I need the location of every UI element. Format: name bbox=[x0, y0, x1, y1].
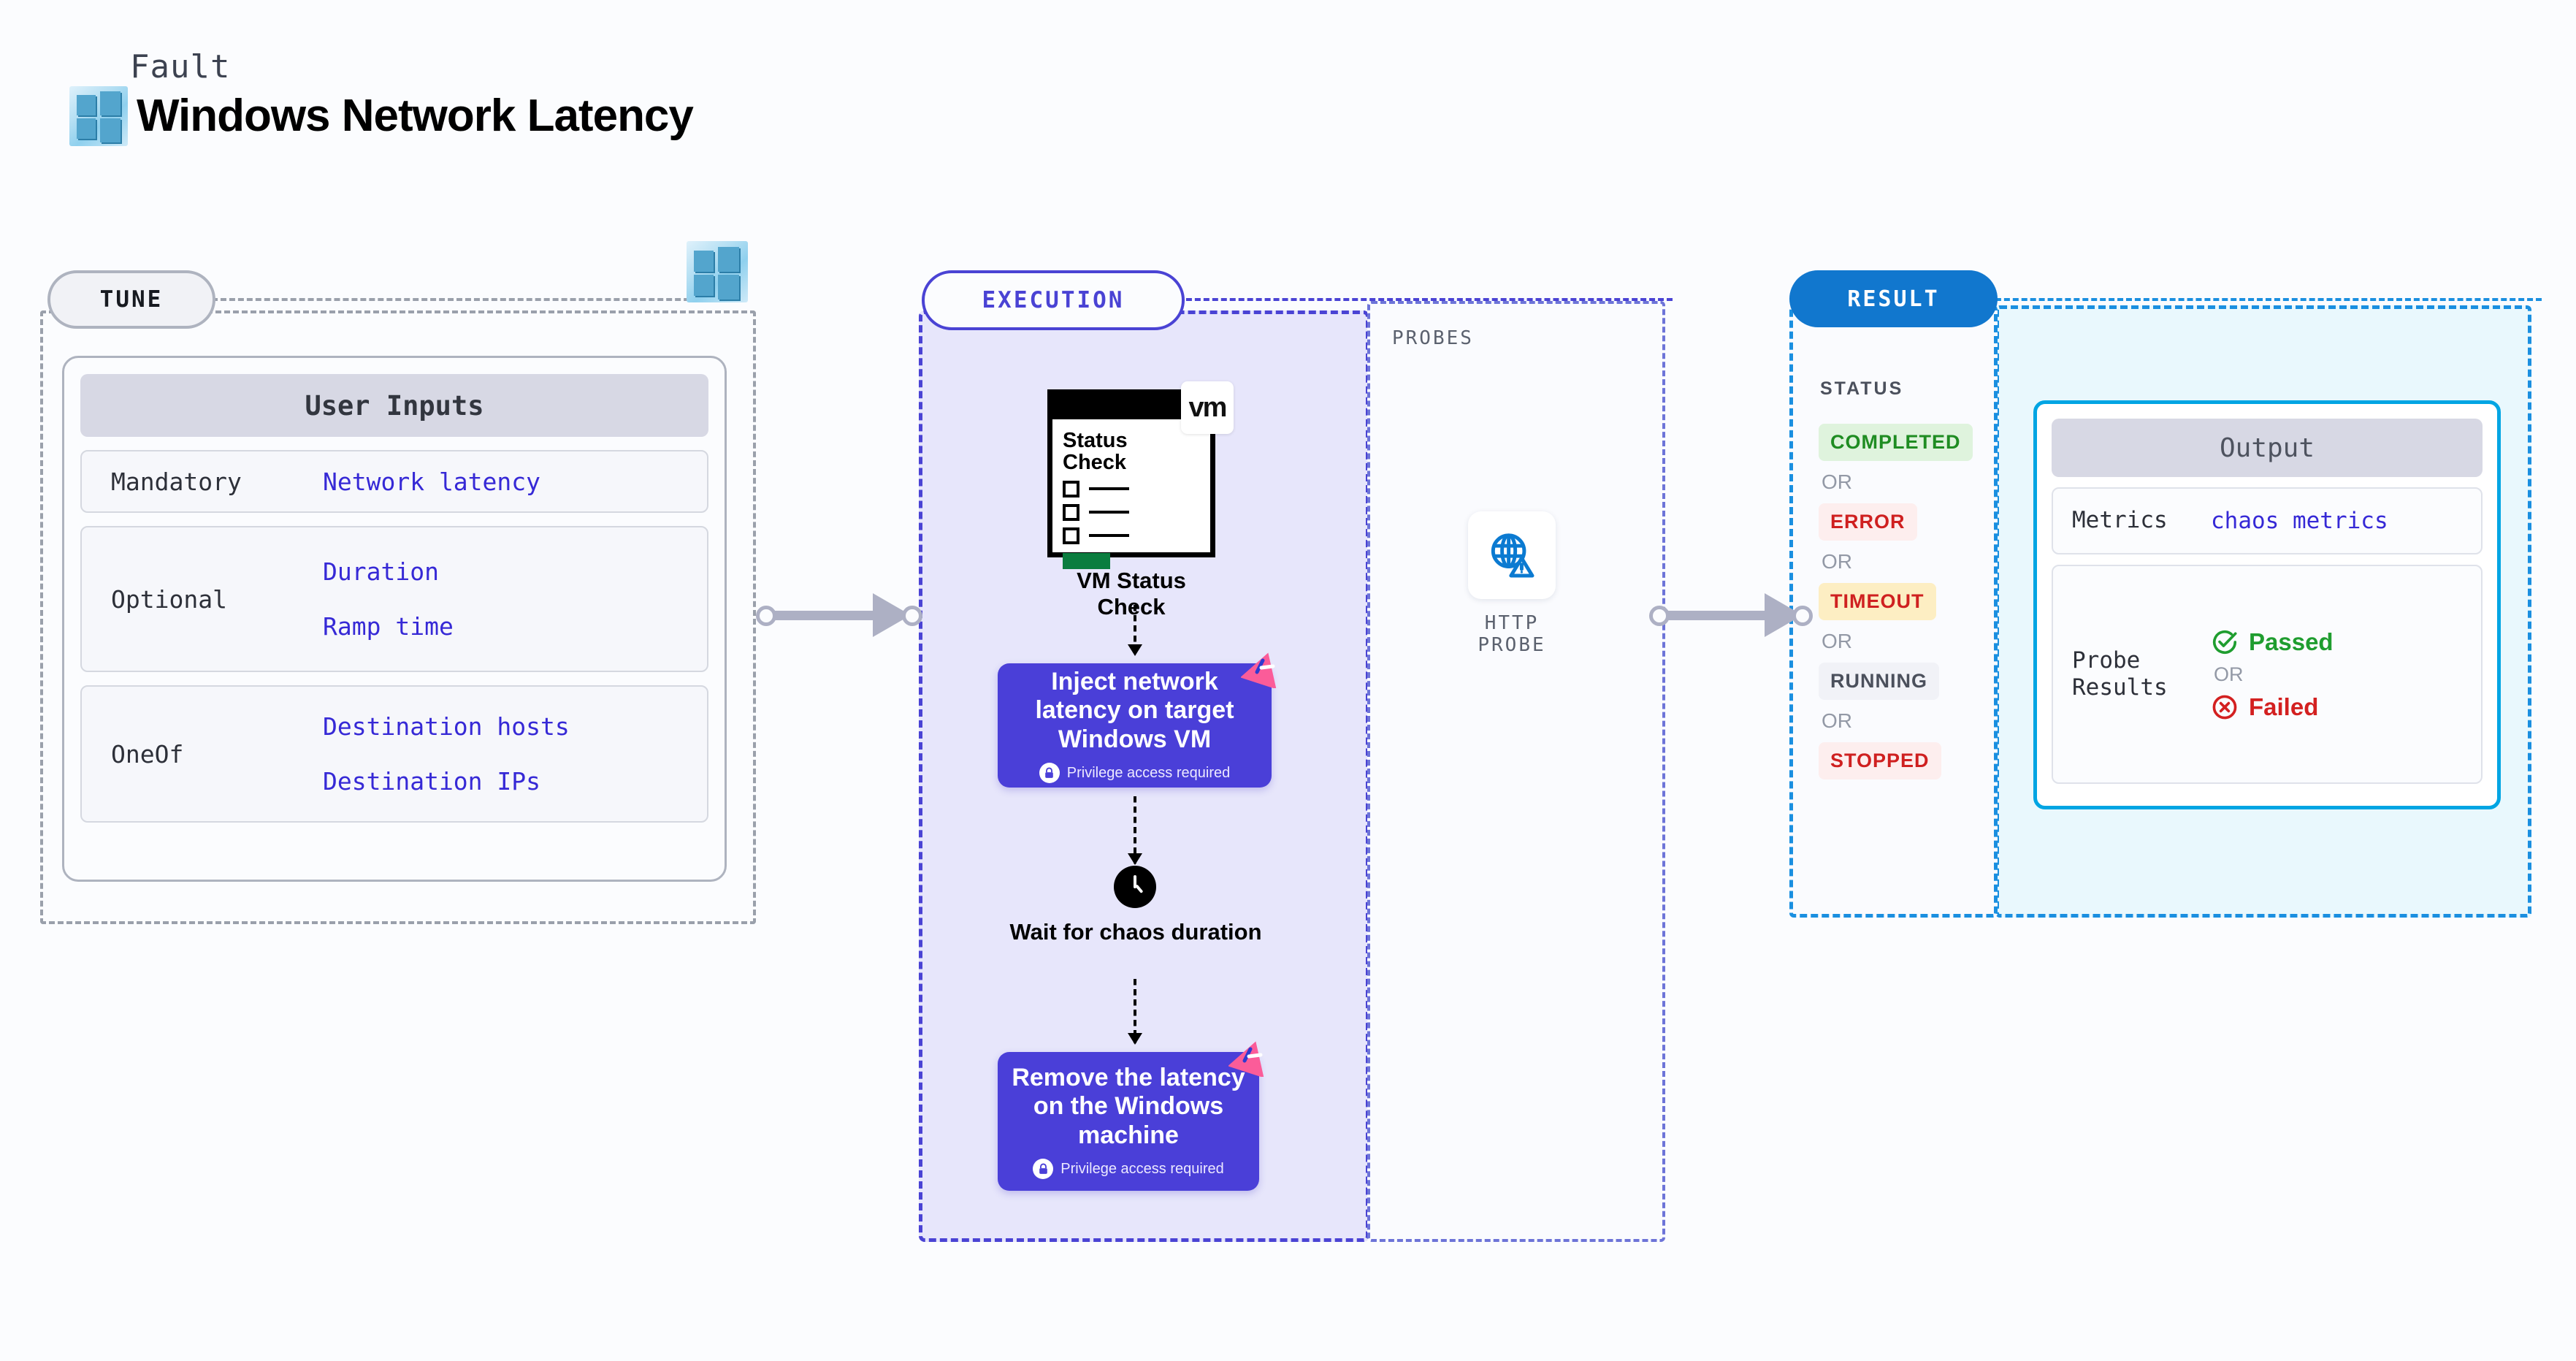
input-group-label: Mandatory bbox=[82, 468, 323, 496]
inject-latency-node[interactable]: Inject network latency on target Windows… bbox=[998, 663, 1272, 788]
page-header: Fault Windows Network Latency bbox=[69, 51, 693, 146]
probe-results-label: Probe Results bbox=[2053, 647, 2211, 701]
tune-badge[interactable]: TUNE bbox=[47, 270, 215, 329]
chaos-marker-icon bbox=[1241, 650, 1283, 688]
wait-node-label: Wait for chaos duration bbox=[1008, 919, 1264, 945]
page-title: Windows Network Latency bbox=[137, 94, 693, 139]
fault-kicker: Fault bbox=[130, 51, 693, 83]
privilege-text: Privilege access required bbox=[1060, 1161, 1223, 1178]
input-group-oneof: OneOf Destination hosts Destination IPs bbox=[80, 685, 708, 823]
chaos-marker-icon bbox=[1228, 1039, 1271, 1077]
privilege-note: Privilege access required bbox=[1033, 1159, 1223, 1179]
connector-tune-to-execution bbox=[756, 593, 924, 637]
globe-warning-icon bbox=[1468, 511, 1556, 599]
windows-logo-icon bbox=[69, 86, 128, 146]
lock-icon bbox=[1033, 1159, 1053, 1179]
flow-arrow-3 bbox=[1134, 979, 1136, 1043]
vm-status-check-node[interactable]: Status Check vm VM Status Check bbox=[1047, 389, 1215, 620]
probes-panel bbox=[1367, 301, 1665, 1242]
lock-icon bbox=[1039, 763, 1060, 783]
probe-result-passed: Passed bbox=[2211, 628, 2334, 656]
status-badge-completed: COMPLETED bbox=[1819, 424, 1973, 461]
result-leader-line bbox=[1987, 298, 2542, 301]
clock-icon bbox=[1114, 866, 1156, 908]
node-title: Remove the latency on the Windows machin… bbox=[998, 1064, 1259, 1150]
output-title: Output bbox=[2052, 419, 2483, 477]
or-separator: OR bbox=[1819, 541, 1994, 583]
input-value[interactable]: Network latency bbox=[323, 468, 540, 496]
input-value[interactable]: Destination IPs bbox=[323, 767, 570, 796]
passed-text: Passed bbox=[2249, 628, 2334, 656]
input-group-label: Optional bbox=[82, 585, 323, 614]
tune-leader-line bbox=[212, 298, 716, 301]
windows-logo-icon bbox=[687, 241, 748, 302]
status-list: COMPLETED OR ERROR OR TIMEOUT OR RUNNING… bbox=[1819, 424, 1994, 779]
failed-text: Failed bbox=[2249, 693, 2318, 721]
output-card: Output Metrics chaos metrics Probe Resul… bbox=[2033, 400, 2501, 809]
input-group-label: OneOf bbox=[82, 740, 323, 769]
or-separator: OR bbox=[1819, 620, 1994, 663]
input-value[interactable]: Ramp time bbox=[323, 612, 454, 641]
input-group-optional: Optional Duration Ramp time bbox=[80, 526, 708, 672]
x-circle-icon bbox=[2211, 693, 2239, 721]
node-title: Inject network latency on target Windows… bbox=[998, 668, 1272, 754]
status-badge-stopped: STOPPED bbox=[1819, 742, 1941, 779]
metrics-value[interactable]: chaos metrics bbox=[2211, 508, 2388, 534]
input-value[interactable]: Duration bbox=[323, 557, 454, 586]
or-separator: OR bbox=[2211, 663, 2334, 686]
status-label: STATUS bbox=[1820, 378, 1903, 400]
remove-latency-node[interactable]: Remove the latency on the Windows machin… bbox=[998, 1052, 1259, 1191]
probe-result-failed: Failed bbox=[2211, 693, 2334, 721]
vm-status-check-icon: Status Check vm bbox=[1047, 389, 1215, 557]
input-group-mandatory: Mandatory Network latency bbox=[80, 450, 708, 513]
execution-badge[interactable]: EXECUTION bbox=[922, 270, 1185, 330]
metrics-label: Metrics bbox=[2053, 507, 2211, 534]
or-separator: OR bbox=[1819, 461, 1994, 503]
status-badge-timeout: TIMEOUT bbox=[1819, 583, 1936, 620]
connector-execution-to-result bbox=[1649, 593, 1824, 637]
privilege-text: Privilege access required bbox=[1067, 765, 1230, 782]
flow-arrow-2 bbox=[1134, 796, 1136, 864]
check-circle-icon bbox=[2211, 628, 2239, 656]
probes-section-label: PROBES bbox=[1392, 327, 1474, 349]
result-badge[interactable]: RESULT bbox=[1789, 270, 1998, 327]
http-probe-caption: HTTP PROBE bbox=[1468, 612, 1556, 656]
or-separator: OR bbox=[1819, 700, 1994, 742]
status-badge-running: RUNNING bbox=[1819, 663, 1939, 700]
vmware-logo-icon: vm bbox=[1181, 381, 1234, 434]
vm-status-check-label: VM Status Check bbox=[1047, 568, 1215, 620]
user-inputs-card: User Inputs Mandatory Network latency Op… bbox=[62, 356, 727, 882]
input-value[interactable]: Destination hosts bbox=[323, 712, 570, 741]
output-group-metrics: Metrics chaos metrics bbox=[2052, 487, 2483, 554]
vm-icon-text-line2: Check bbox=[1063, 451, 1210, 473]
privilege-note: Privilege access required bbox=[1039, 763, 1230, 783]
output-group-probe-results: Probe Results Passed OR Failed bbox=[2052, 565, 2483, 784]
execution-leader-line bbox=[1169, 298, 1673, 301]
status-badge-error: ERROR bbox=[1819, 503, 1917, 541]
http-probe-node[interactable]: HTTP PROBE bbox=[1468, 511, 1556, 656]
user-inputs-title: User Inputs bbox=[80, 374, 708, 437]
